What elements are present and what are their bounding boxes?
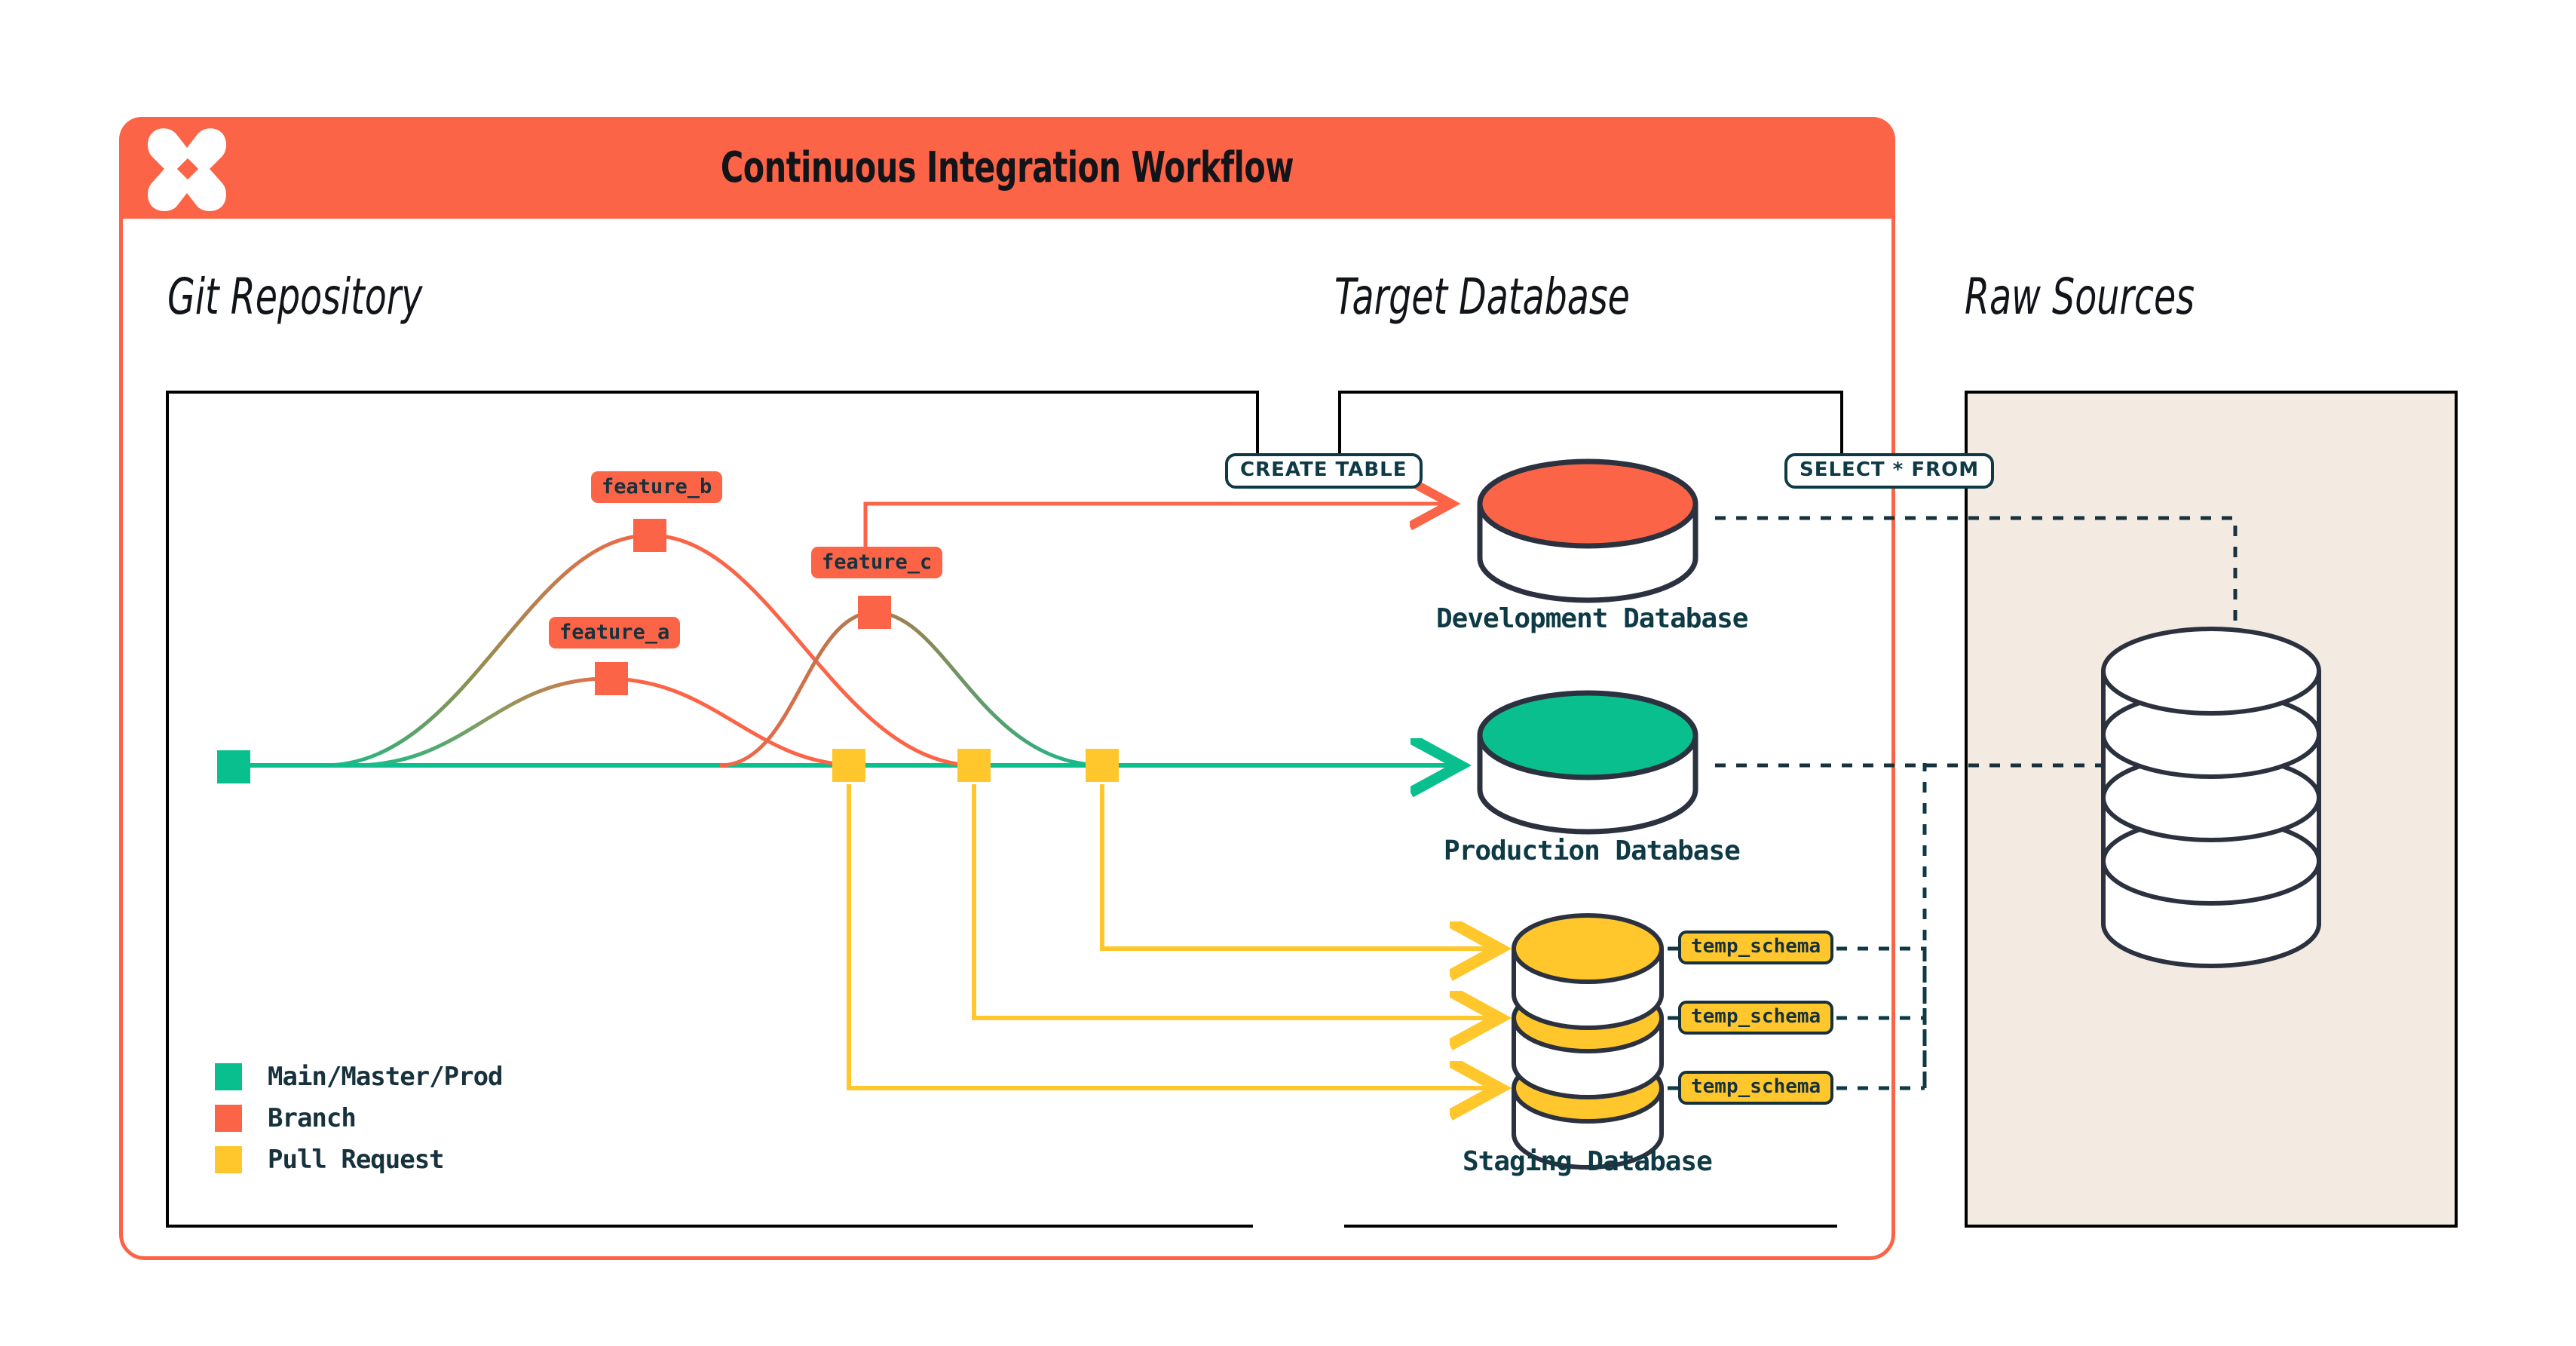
- db-caption-production: Production Database: [1444, 836, 1740, 866]
- legend-item-pull-request: Pull Request: [215, 1139, 503, 1180]
- legend-item-branch: Branch: [215, 1097, 503, 1139]
- sql-badge-create-table[interactable]: CREATE TABLE: [1225, 453, 1423, 489]
- production-database-cylinder: [1480, 693, 1695, 832]
- staging-database-cylinder: [1514, 915, 1662, 1167]
- legend-swatch-pull-request: [215, 1146, 242, 1173]
- pr-arrow-top: [1102, 784, 1490, 949]
- branch-label-feature-a[interactable]: feature_a: [549, 617, 680, 648]
- sql-badge-select-star[interactable]: SELECT * FROM: [1784, 453, 1994, 489]
- db-caption-staging: Staging Database: [1463, 1146, 1712, 1177]
- temp-schema-badge-2[interactable]: temp_schema: [1678, 1001, 1833, 1035]
- pull-request-node-1[interactable]: [832, 749, 865, 782]
- raw-sources-cylinder: [2103, 629, 2319, 966]
- branch-label-feature-b[interactable]: feature_b: [591, 471, 722, 503]
- pr-arrow-middle: [974, 784, 1490, 1018]
- pr-arrow-bottom: [849, 784, 1490, 1088]
- legend-label-main: Main/Master/Prod: [268, 1062, 503, 1092]
- temp-schema-badge-1[interactable]: temp_schema: [1678, 931, 1833, 964]
- legend-swatch-main: [215, 1063, 242, 1090]
- branch-label-feature-c[interactable]: feature_c: [811, 547, 942, 578]
- commit-node-feature-a[interactable]: [595, 662, 628, 695]
- legend-swatch-branch: [215, 1105, 242, 1132]
- temp-schema-badge-3[interactable]: temp_schema: [1678, 1071, 1833, 1105]
- diagram-canvas: Continuous Integration Workflow Git Repo…: [0, 0, 2576, 1346]
- db-caption-development: Development Database: [1436, 603, 1747, 634]
- commit-node-main[interactable]: [217, 750, 250, 783]
- legend-label-pull-request: Pull Request: [268, 1145, 444, 1175]
- dotted-dev-to-raw: [1715, 518, 2235, 637]
- pull-request-node-2[interactable]: [957, 749, 991, 782]
- legend-item-main: Main/Master/Prod: [215, 1056, 503, 1097]
- feature-c-curve: [720, 612, 1104, 765]
- legend: Main/Master/Prod Branch Pull Request: [215, 1056, 503, 1180]
- create-table-arrow: [865, 504, 1444, 564]
- commit-node-feature-c[interactable]: [858, 596, 891, 629]
- development-database-cylinder: [1480, 461, 1695, 600]
- commit-node-feature-b[interactable]: [633, 519, 666, 552]
- pull-request-node-3[interactable]: [1086, 749, 1119, 782]
- legend-label-branch: Branch: [268, 1103, 356, 1133]
